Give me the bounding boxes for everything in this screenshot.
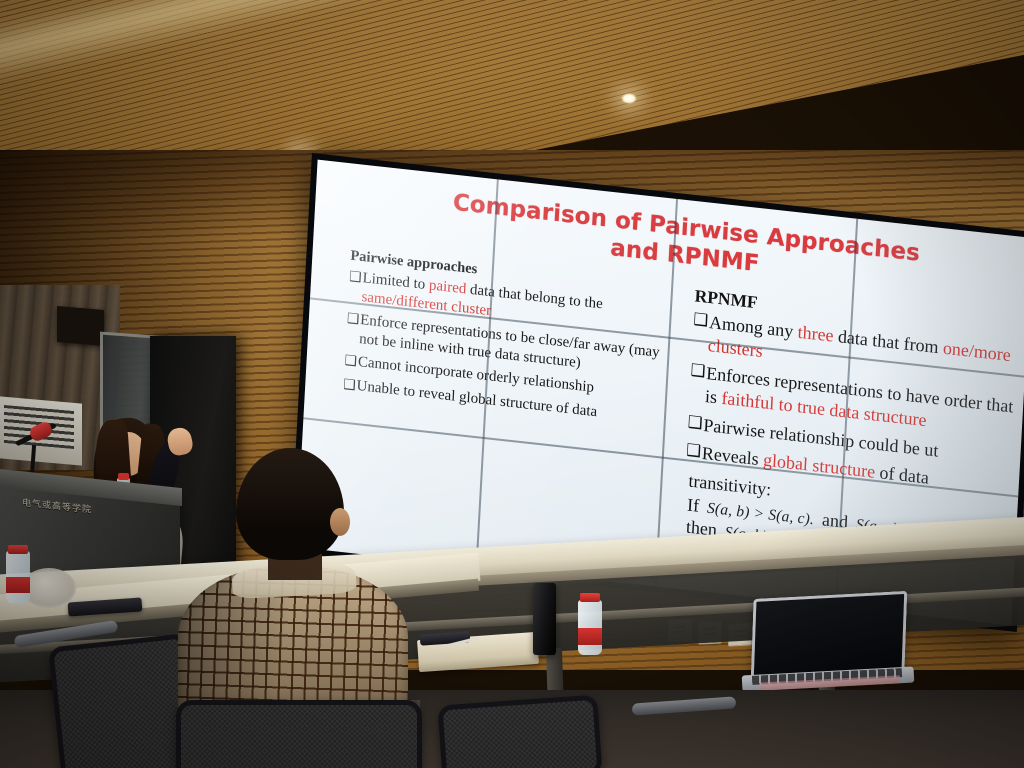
- checkbox-bullet-icon: ❑: [348, 268, 362, 306]
- checkbox-bullet-icon: ❑: [344, 352, 357, 372]
- formula-if-prefix: If: [687, 494, 700, 516]
- desk-microphone[interactable]: [533, 583, 556, 655]
- checkbox-bullet-icon: ❑: [689, 361, 706, 408]
- checkbox-bullet-icon: ❑: [345, 310, 359, 348]
- water-bottle-cap: [8, 545, 28, 554]
- checkbox-bullet-icon: ❑: [343, 376, 356, 396]
- highlight-text: three: [797, 322, 834, 346]
- water-bottle-label: [578, 628, 602, 645]
- checkbox-bullet-icon: ❑: [691, 309, 708, 356]
- checkbox-bullet-icon: ❑: [687, 412, 703, 436]
- screenshot-root: 电气或高等学院 Comparison of Pairwise Approache…: [0, 0, 1024, 768]
- saucer-plate: [22, 568, 76, 608]
- presenter-bottle-cap: [118, 473, 129, 480]
- mesh-office-chair[interactable]: [176, 700, 422, 768]
- downlight-icon: [621, 93, 637, 104]
- laptop-screen[interactable]: [751, 591, 908, 680]
- highlight-text: paired: [429, 277, 467, 297]
- right-bullet-list: ❑Among any three data that from one/more…: [686, 309, 1021, 499]
- water-bottle-label: [6, 577, 30, 593]
- audience-member-ear: [330, 508, 350, 536]
- water-bottle-cap: [580, 593, 600, 602]
- slide-column-left: Pairwise approaches ❑Limited to paired d…: [337, 248, 679, 535]
- wall-speaker: [57, 306, 104, 346]
- mesh-office-chair[interactable]: [437, 695, 602, 768]
